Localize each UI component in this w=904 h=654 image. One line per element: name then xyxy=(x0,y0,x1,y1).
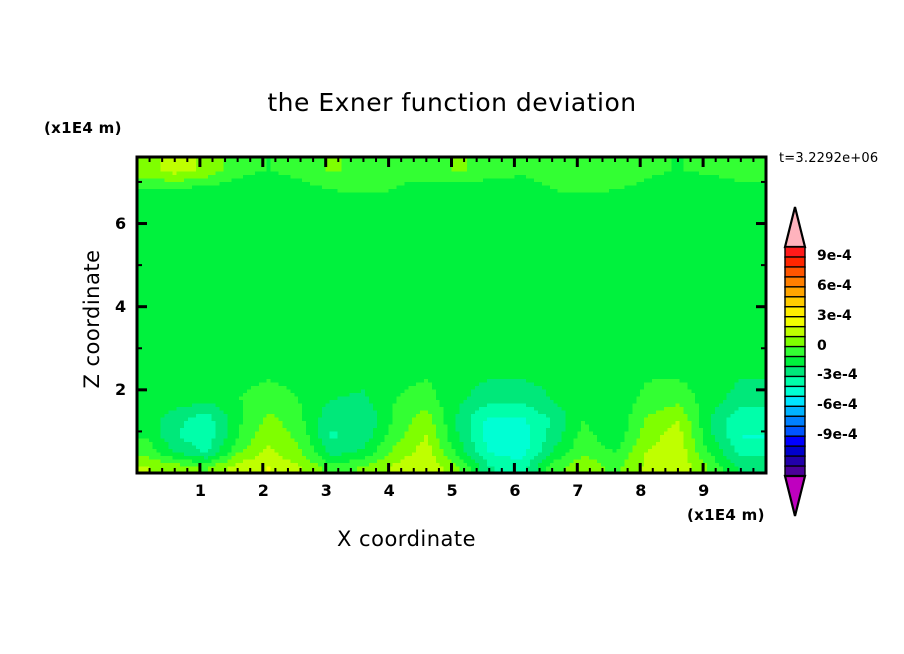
x-tick-label: 7 xyxy=(572,481,583,500)
colorbar-over-arrow xyxy=(785,207,805,247)
x-tick-label: 6 xyxy=(509,481,520,500)
colorbar xyxy=(785,207,805,516)
colorbar-segment xyxy=(785,317,805,327)
x-tick-label: 8 xyxy=(635,481,646,500)
colorbar-tick-label: -3e-4 xyxy=(817,367,858,383)
colorbar-segment xyxy=(785,277,805,287)
x-tick-label: 1 xyxy=(195,481,206,500)
y-tick-label: 4 xyxy=(115,297,126,316)
colorbar-segment xyxy=(785,416,805,426)
colorbar-segment xyxy=(785,337,805,347)
colorbar-tick-label: -6e-4 xyxy=(817,397,858,413)
colorbar-segment xyxy=(785,466,805,476)
x-tick-label: 4 xyxy=(384,481,395,500)
x-tick-label: 9 xyxy=(698,481,709,500)
colorbar-segment xyxy=(785,347,805,357)
colorbar-tick-label: 6e-4 xyxy=(817,278,852,294)
figure-canvas: the Exner function deviation (x1E4 m) t=… xyxy=(0,0,904,654)
colorbar-segment xyxy=(785,436,805,446)
colorbar-segment xyxy=(785,386,805,396)
colorbar-segment xyxy=(785,406,805,416)
colorbar-tick-label: 9e-4 xyxy=(817,248,852,264)
x-tick-label: 3 xyxy=(321,481,332,500)
colorbar-segment xyxy=(785,357,805,367)
colorbar-segment xyxy=(785,307,805,317)
colorbar-segment xyxy=(785,396,805,406)
colorbar-segment xyxy=(785,376,805,386)
colorbar-segment xyxy=(785,426,805,436)
colorbar-segment xyxy=(785,247,805,257)
colorbar-segment xyxy=(785,267,805,277)
colorbar-segment xyxy=(785,446,805,456)
colorbar-tick-label: 0 xyxy=(817,338,827,354)
colorbar-segment xyxy=(785,366,805,376)
colorbar-tick-label: 3e-4 xyxy=(817,308,852,324)
colorbar-segment xyxy=(785,297,805,307)
colorbar-under-arrow xyxy=(785,476,805,516)
x-tick-label: 2 xyxy=(258,481,269,500)
colorbar-tick-label: -9e-4 xyxy=(817,427,858,443)
x-tick-label: 5 xyxy=(447,481,458,500)
contour-plot xyxy=(0,0,904,654)
colorbar-segment xyxy=(785,456,805,466)
contour-field xyxy=(137,157,767,474)
colorbar-segment xyxy=(785,327,805,337)
y-tick-label: 6 xyxy=(115,214,126,233)
y-tick-label: 2 xyxy=(115,380,126,399)
colorbar-segment xyxy=(785,257,805,267)
colorbar-segment xyxy=(785,287,805,297)
